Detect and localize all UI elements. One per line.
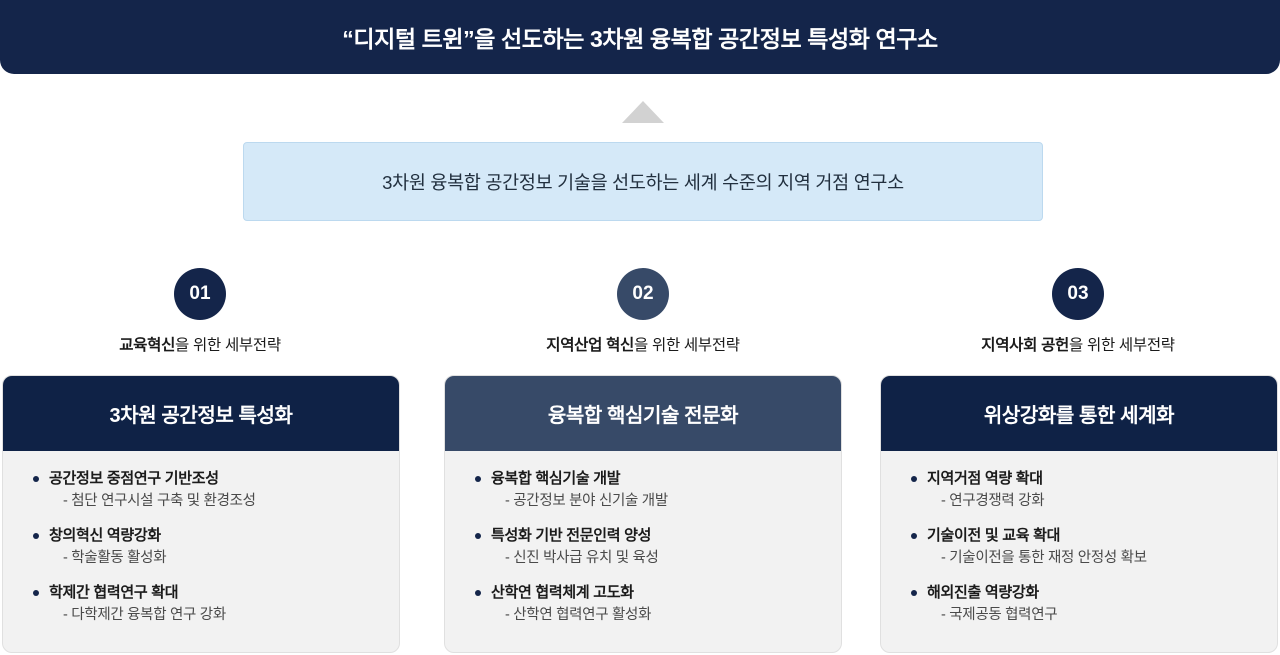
- bullet-dot-icon: [475, 533, 481, 539]
- vision-statement-box: 3차원 융복합 공간정보 기술을 선도하는 세계 수준의 지역 거점 연구소: [243, 142, 1043, 221]
- step-badge-02: 02: [617, 268, 669, 320]
- bullet-title-row: 공간정보 중점연구 기반조성: [33, 469, 383, 489]
- strategy-card-3-header: 위상강화를 통한 세계화: [881, 376, 1277, 451]
- bullet-title-text: 학제간 협력연구 확대: [49, 583, 178, 603]
- bullet-sub-text: - 연구경쟁력 강화: [941, 492, 1261, 512]
- strategy-card-3: 위상강화를 통한 세계화 지역거점 역량 확대 - 연구경쟁력 강화 기술이전 …: [880, 375, 1278, 653]
- bullet-title-row: 해외진출 역량강화: [911, 583, 1261, 603]
- list-item: 산학연 협력체계 고도화 - 산학연 협력연구 활성화: [475, 583, 825, 626]
- strategy-card-2: 융복합 핵심기술 전문화 융복합 핵심기술 개발 - 공간정보 분야 신기술 개…: [444, 375, 842, 653]
- strategy-label-emphasis: 지역사회 공헌: [981, 337, 1069, 354]
- step-badge-number: 01: [189, 283, 210, 305]
- bullet-sub-text: - 학술활동 활성화: [63, 549, 383, 569]
- bullet-sub-text: - 공간정보 분야 신기술 개발: [505, 492, 825, 512]
- bullet-title-row: 기술이전 및 교육 확대: [911, 526, 1261, 546]
- bullet-sub-text: - 첨단 연구시설 구축 및 환경조성: [63, 492, 383, 512]
- bullet-dot-icon: [33, 590, 39, 596]
- strategy-column-headers: 01 교육혁신을 위한 세부전략 02 지역산업 혁신을 위한 세부전략 03 …: [0, 268, 1280, 356]
- step-badge-number: 03: [1067, 283, 1088, 305]
- bullet-dot-icon: [475, 476, 481, 482]
- bullet-sub-text: - 신진 박사급 유치 및 육성: [505, 549, 825, 569]
- strategy-label-rest: 을 위한 세부전략: [175, 337, 281, 354]
- bullet-dot-icon: [911, 533, 917, 539]
- bullet-sub-text: - 기술이전을 통한 재정 안정성 확보: [941, 549, 1261, 569]
- bullet-title-text: 산학연 협력체계 고도화: [491, 583, 634, 603]
- strategy-card-1-title: 3차원 공간정보 특성화: [109, 399, 292, 428]
- bullet-dot-icon: [33, 476, 39, 482]
- bullet-sub-text: - 산학연 협력연구 활성화: [505, 606, 825, 626]
- bullet-title-text: 창의혁신 역량강화: [49, 526, 161, 546]
- bullet-title-text: 기술이전 및 교육 확대: [927, 526, 1060, 546]
- list-item: 기술이전 및 교육 확대 - 기술이전을 통한 재정 안정성 확보: [911, 526, 1261, 569]
- list-item: 융복합 핵심기술 개발 - 공간정보 분야 신기술 개발: [475, 469, 825, 512]
- step-badge-01: 01: [174, 268, 226, 320]
- strategy-card-1-header: 3차원 공간정보 특성화: [3, 376, 399, 451]
- page-title: “디지털 트윈”을 선도하는 3차원 융복합 공간정보 특성화 연구소: [342, 20, 938, 54]
- strategy-label-emphasis: 교육혁신: [119, 337, 175, 354]
- strategy-label-rest: 을 위한 세부전략: [634, 337, 740, 354]
- strategy-column-2-header: 02 지역산업 혁신을 위한 세부전략: [443, 268, 843, 355]
- strategy-label-rest: 을 위한 세부전략: [1069, 337, 1175, 354]
- bullet-title-row: 산학연 협력체계 고도화: [475, 583, 825, 603]
- strategy-card-2-title: 융복합 핵심기술 전문화: [548, 399, 738, 428]
- strategy-card-1-body: 공간정보 중점연구 기반조성 - 첨단 연구시설 구축 및 환경조성 창의혁신 …: [3, 451, 399, 635]
- strategy-column-3-label: 지역사회 공헌을 위한 세부전략: [981, 333, 1175, 355]
- bullet-title-row: 특성화 기반 전문인력 양성: [475, 526, 825, 546]
- bullet-sub-text: - 다학제간 융복합 연구 강화: [63, 606, 383, 626]
- list-item: 해외진출 역량강화 - 국제공동 협력연구: [911, 583, 1261, 626]
- bullet-title-text: 공간정보 중점연구 기반조성: [49, 469, 219, 489]
- strategy-card-3-body: 지역거점 역량 확대 - 연구경쟁력 강화 기술이전 및 교육 확대 - 기술이…: [881, 451, 1277, 635]
- bullet-dot-icon: [33, 533, 39, 539]
- bullet-title-row: 창의혁신 역량강화: [33, 526, 383, 546]
- bullet-sub-text: - 국제공동 협력연구: [941, 606, 1261, 626]
- list-item: 공간정보 중점연구 기반조성 - 첨단 연구시설 구축 및 환경조성: [33, 469, 383, 512]
- bullet-dot-icon: [911, 590, 917, 596]
- bullet-title-row: 지역거점 역량 확대: [911, 469, 1261, 489]
- strategy-column-2-label: 지역산업 혁신을 위한 세부전략: [546, 333, 740, 355]
- bullet-title-row: 학제간 협력연구 확대: [33, 583, 383, 603]
- vision-statement-text: 3차원 융복합 공간정보 기술을 선도하는 세계 수준의 지역 거점 연구소: [382, 169, 904, 195]
- list-item: 특성화 기반 전문인력 양성 - 신진 박사급 유치 및 육성: [475, 526, 825, 569]
- triangle-up-icon: [622, 101, 664, 123]
- strategy-card-2-body: 융복합 핵심기술 개발 - 공간정보 분야 신기술 개발 특성화 기반 전문인력…: [445, 451, 841, 635]
- list-item: 학제간 협력연구 확대 - 다학제간 융복합 연구 강화: [33, 583, 383, 626]
- list-item: 창의혁신 역량강화 - 학술활동 활성화: [33, 526, 383, 569]
- bullet-title-text: 특성화 기반 전문인력 양성: [491, 526, 651, 546]
- page-banner: “디지털 트윈”을 선도하는 3차원 융복합 공간정보 특성화 연구소: [0, 0, 1280, 74]
- strategy-card-1: 3차원 공간정보 특성화 공간정보 중점연구 기반조성 - 첨단 연구시설 구축…: [2, 375, 400, 653]
- bullet-title-text: 융복합 핵심기술 개발: [491, 469, 620, 489]
- bullet-title-text: 해외진출 역량강화: [927, 583, 1039, 603]
- strategy-label-emphasis: 지역산업 혁신: [546, 337, 634, 354]
- strategy-column-1-header: 01 교육혁신을 위한 세부전략: [0, 268, 400, 355]
- strategy-column-1-label: 교육혁신을 위한 세부전략: [119, 333, 281, 355]
- bullet-title-text: 지역거점 역량 확대: [927, 469, 1043, 489]
- strategy-card-2-header: 융복합 핵심기술 전문화: [445, 376, 841, 451]
- step-badge-number: 02: [632, 283, 653, 305]
- bullet-dot-icon: [475, 590, 481, 596]
- step-badge-03: 03: [1052, 268, 1104, 320]
- strategy-card-3-title: 위상강화를 통한 세계화: [984, 399, 1174, 428]
- bullet-title-row: 융복합 핵심기술 개발: [475, 469, 825, 489]
- list-item: 지역거점 역량 확대 - 연구경쟁력 강화: [911, 469, 1261, 512]
- strategy-column-3-header: 03 지역사회 공헌을 위한 세부전략: [878, 268, 1278, 355]
- bullet-dot-icon: [911, 476, 917, 482]
